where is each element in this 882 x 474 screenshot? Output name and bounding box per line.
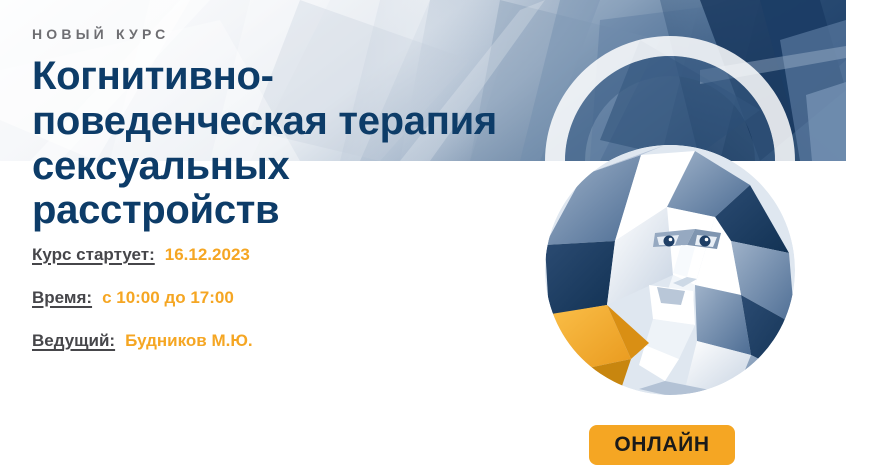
page-title: Когнитивно-поведенческая терапия сексуал… — [32, 41, 532, 233]
portrait-avatar — [545, 145, 795, 395]
detail-label-time: Время: — [32, 288, 92, 308]
detail-row-time: Время: с 10:00 до 17:00 — [32, 288, 532, 308]
detail-value-time: с 10:00 до 17:00 — [102, 288, 234, 308]
detail-row-start-date: Курс стартует: 16.12.2023 — [32, 245, 532, 265]
status-badge-online[interactable]: ОНЛАЙН — [589, 425, 735, 465]
eyebrow-label: НОВЫЙ КУРС — [32, 0, 552, 41]
detail-value-start-date: 16.12.2023 — [165, 245, 250, 265]
status-badge-label: ОНЛАЙН — [614, 433, 709, 457]
headline-block: НОВЫЙ КУРС Когнитивно-поведенческая тера… — [32, 0, 552, 233]
course-promo-banner: НОВЫЙ КУРС Когнитивно-поведенческая тера… — [0, 0, 882, 474]
course-details-list: Курс стартует: 16.12.2023 Время: с 10:00… — [32, 245, 532, 351]
detail-label-presenter: Ведущий: — [32, 331, 115, 351]
detail-label-start-date: Курс стартует: — [32, 245, 155, 265]
detail-value-presenter: Будников М.Ю. — [125, 331, 253, 351]
detail-row-presenter: Ведущий: Будников М.Ю. — [32, 331, 532, 351]
